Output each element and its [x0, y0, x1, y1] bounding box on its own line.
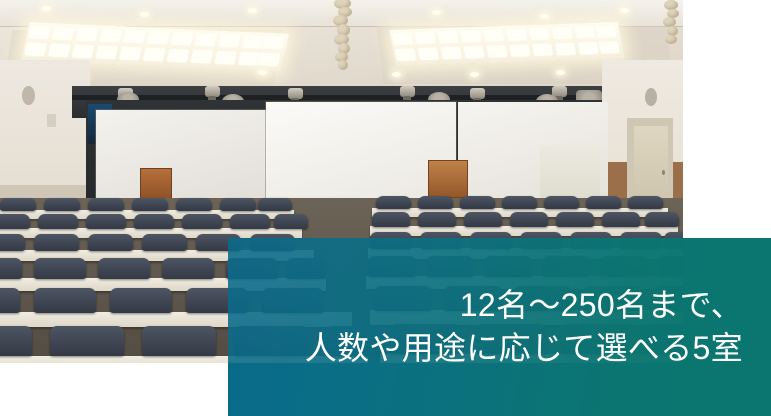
stage-spotlight [205, 86, 220, 97]
wall-clock-icon [22, 86, 35, 105]
stage-spotlight [400, 86, 415, 97]
hanging-chandelier-secondary [662, 0, 682, 52]
downlight-icon [470, 72, 479, 77]
stage-spotlight [470, 88, 485, 99]
downlight-icon [42, 6, 51, 11]
downlight-icon [248, 8, 257, 13]
downlight-icon [392, 72, 401, 77]
downlight-icon [556, 70, 565, 75]
downlight-icon [432, 10, 441, 15]
hero-banner: 12名〜250名まで、 人数や用途に応じて選べる5室 [0, 0, 771, 416]
caption-panel: 12名〜250名まで、 人数や用途に応じて選べる5室 [228, 238, 771, 416]
downlight-icon [258, 70, 267, 75]
hanging-chandelier [330, 0, 356, 72]
downlight-icon [620, 8, 629, 13]
door-handle-icon [662, 170, 665, 175]
wall-vent [47, 114, 56, 127]
caption-text: 12名〜250名まで、 人数や用途に応じて選べる5室 [305, 284, 771, 370]
caption-line-1: 12名〜250名まで、 [305, 284, 743, 327]
downlight-icon [540, 14, 549, 19]
lectern-left [140, 168, 172, 200]
downlight-icon [140, 12, 149, 17]
stage-spotlight [288, 88, 303, 99]
wall-speaker-icon [645, 88, 657, 106]
caption-line-2: 人数や用途に応じて選べる5室 [305, 327, 743, 370]
lectern-right [428, 160, 468, 198]
